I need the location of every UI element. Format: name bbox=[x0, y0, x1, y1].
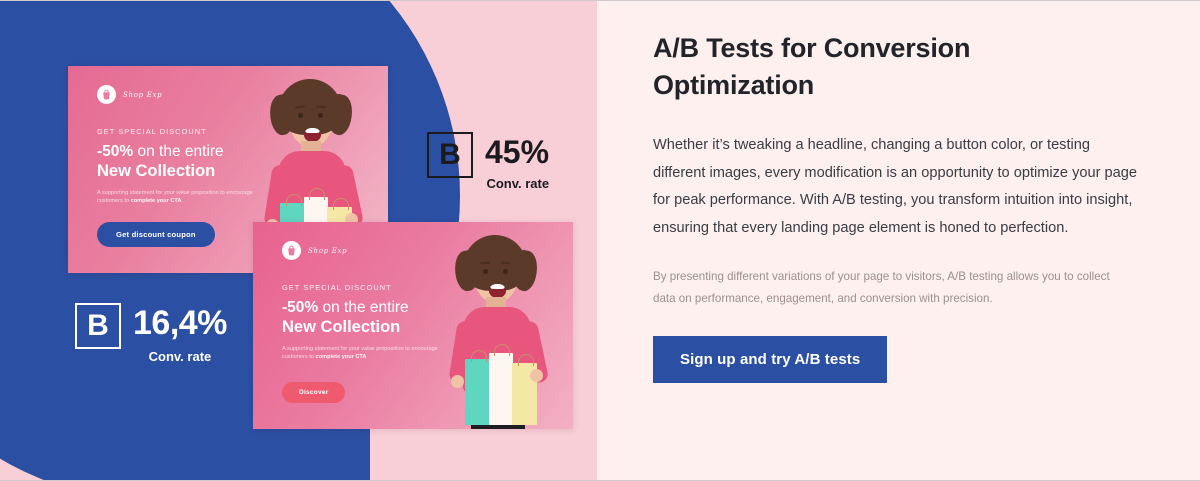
blue-tail-shape bbox=[255, 426, 370, 481]
conversion-stat-variant-b: B 16,4% Conv. rate bbox=[75, 303, 227, 364]
stat-b-value: 16,4% bbox=[133, 306, 227, 340]
card-a-headline: -50% on the entire bbox=[97, 142, 224, 161]
conversion-stat-variant-a: B 45% Conv. rate bbox=[427, 132, 549, 191]
card-b-logo: Shop Exp bbox=[282, 241, 347, 260]
signup-cta-button[interactable]: Sign up and try A/B tests bbox=[653, 336, 887, 383]
illustration-panel: Shop Exp GET SPECIAL DISCOUNT -50% on th… bbox=[0, 1, 597, 481]
card-a-eyebrow: GET SPECIAL DISCOUNT bbox=[97, 127, 207, 136]
stat-a-label: Conv. rate bbox=[486, 176, 549, 191]
card-a-support-bold: complete your CTA bbox=[131, 198, 182, 204]
card-a-support-text: A supporting statement for your value pr… bbox=[97, 189, 257, 206]
card-b-headline-line2: New Collection bbox=[282, 317, 400, 337]
shopping-bag-icon bbox=[282, 241, 301, 260]
stat-b-values: 16,4% Conv. rate bbox=[133, 303, 227, 364]
ab-test-promo-section: Shop Exp GET SPECIAL DISCOUNT -50% on th… bbox=[0, 0, 1200, 481]
card-a-discount: -50% bbox=[97, 143, 133, 160]
card-a-headline-line2: New Collection bbox=[97, 161, 215, 181]
stat-a-values: 45% Conv. rate bbox=[485, 132, 549, 191]
stat-b-label: Conv. rate bbox=[149, 349, 212, 364]
content-panel: A/B Tests for Conversion Optimization Wh… bbox=[597, 1, 1200, 481]
page-title: A/B Tests for Conversion Optimization bbox=[653, 30, 1138, 104]
card-a-headline-rest: on the entire bbox=[133, 143, 223, 160]
stat-a-value: 45% bbox=[485, 136, 549, 168]
card-b-logo-text: Shop Exp bbox=[308, 247, 347, 255]
card-a-logo: Shop Exp bbox=[97, 85, 162, 104]
stat-a-letter-box: B bbox=[427, 132, 473, 178]
card-a-cta-button[interactable]: Get discount coupon bbox=[97, 222, 215, 247]
card-b-discount: -50% bbox=[282, 299, 318, 316]
card-b-headline: -50% on the entire bbox=[282, 298, 409, 317]
shopping-bag-icon bbox=[97, 85, 116, 104]
card-b-model-photo bbox=[425, 229, 565, 429]
stat-b-letter-box: B bbox=[75, 303, 121, 349]
secondary-paragraph: By presenting different variations of yo… bbox=[653, 266, 1123, 309]
card-b-support-bold: complete your CTA bbox=[316, 354, 367, 360]
promo-card-variant-b[interactable]: Shop Exp GET SPECIAL DISCOUNT -50% on th… bbox=[253, 222, 573, 429]
card-b-eyebrow: GET SPECIAL DISCOUNT bbox=[282, 283, 392, 292]
card-a-logo-text: Shop Exp bbox=[123, 91, 162, 99]
card-b-support-text: A supporting statement for your value pr… bbox=[282, 345, 442, 362]
body-paragraph: Whether it’s tweaking a headline, changi… bbox=[653, 132, 1138, 242]
card-b-headline-rest: on the entire bbox=[318, 299, 408, 316]
card-b-cta-button[interactable]: Discover bbox=[282, 382, 345, 403]
